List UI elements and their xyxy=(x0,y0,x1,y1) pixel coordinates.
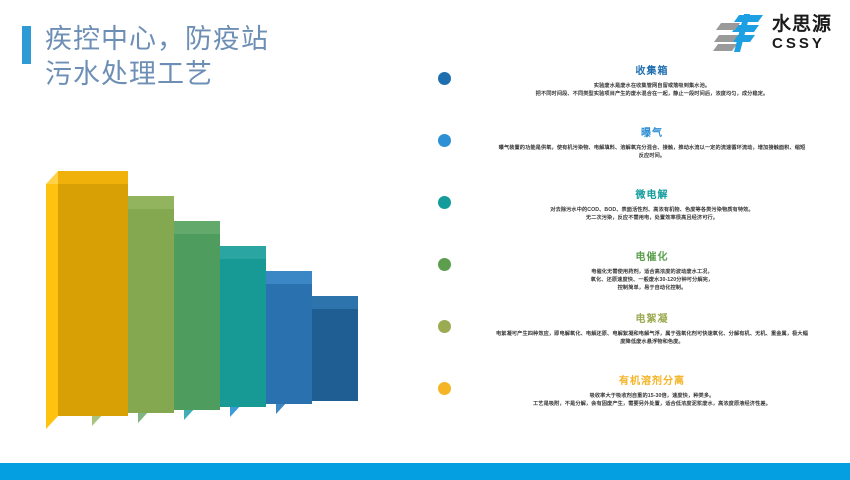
process-item-body: 微电解 对去除污水中的COD、BOD、表面活性剂、高浓有机物、色度等各类污染物质… xyxy=(468,186,836,222)
bullet-dot-5 xyxy=(438,320,451,333)
process-desc-1-line-1: 实验废水是废水在收集管网自留或落吸到集水池。 xyxy=(468,82,836,90)
bottom-accent-bar xyxy=(0,463,850,480)
process-item-6[interactable]: 有机溶剂分离 吸收率大于吸收剂自重的15-30倍，速度快，种类多。 工艺是吸附，… xyxy=(428,372,840,434)
process-desc-2-line-2: 反应时间。 xyxy=(468,152,836,160)
process-desc-4-line-1: 电催化无需使用药剂，适合高浓度的波动废水工况， xyxy=(468,268,836,276)
bullet-dot-4 xyxy=(438,258,451,271)
process-heading-4: 电催化 xyxy=(468,248,836,263)
process-desc-6-line-2: 工艺是吸附，不是分解，会有固废产生，需要另外处置，适合低浓度泥浆废水，高浓度原液… xyxy=(468,400,836,408)
bullet-dot-2 xyxy=(438,134,451,147)
logo-name-cn: 水思源 xyxy=(772,15,832,34)
process-item-body: 电絮凝 电絮凝可产生四种效应，即电解氧化、电解还原、电解絮凝和电解气浮，属于强氧… xyxy=(468,310,836,346)
logo-text: 水思源 CSSY xyxy=(772,15,832,51)
process-heading-5: 电絮凝 xyxy=(468,310,836,325)
process-item-3[interactable]: 微电解 对去除污水中的COD、BOD、表面活性剂、高浓有机物、色度等各类污染物质… xyxy=(428,186,840,248)
process-item-body: 收集箱 实验废水是废水在收集管网自留或落吸到集水池。 把不同时间段、不同类型实验… xyxy=(468,62,836,98)
process-desc-1-line-2: 把不同时间段、不同类型实验项目产生的废水混合在一起，静止一段时间后，浓度均匀，成… xyxy=(468,90,836,98)
slide-canvas: 疾控中心，防疫站 污水处理工艺 水思源 CSSY xyxy=(0,0,850,480)
process-item-5[interactable]: 电絮凝 电絮凝可产生四种效应，即电解氧化、电解还原、电解絮凝和电解气浮，属于强氧… xyxy=(428,310,840,372)
process-item-body: 电催化 电催化无需使用药剂，适合高浓度的波动废水工况， 氧化、还原速度快、一般废… xyxy=(468,248,836,292)
title-text: 疾控中心，防疫站 污水处理工艺 xyxy=(45,22,269,92)
process-desc-2-line-1: 曝气装置的功能是供氧，使有机污染物、电解填料、溶解氧充分混合、接触，推动水流以一… xyxy=(468,144,836,152)
process-list: 收集箱 实验废水是废水在收集管网自留或落吸到集水池。 把不同时间段、不同类型实验… xyxy=(428,62,840,437)
process-desc-3-line-2: 无二次污染，反应不需用电，处置效率很高且经济可行。 xyxy=(468,214,836,222)
title-accent-bar xyxy=(22,26,31,64)
panel-1-yellow xyxy=(46,171,128,429)
page-title: 疾控中心，防疫站 污水处理工艺 xyxy=(22,22,269,92)
title-line-2: 污水处理工艺 xyxy=(45,57,269,92)
process-desc-4-line-3: 控制简单，易于自动化控制。 xyxy=(468,284,836,292)
process-item-4[interactable]: 电催化 电催化无需使用药剂，适合高浓度的波动废水工况， 氧化、还原速度快、一般废… xyxy=(428,248,840,310)
brand-logo: 水思源 CSSY xyxy=(713,12,832,54)
bullet-dot-1 xyxy=(438,72,451,85)
process-desc-5-line-1: 电絮凝可产生四种效应，即电解氧化、电解还原、电解絮凝和电解气浮，属于强氧化剂可快… xyxy=(468,330,836,338)
logo-mark-icon xyxy=(713,12,765,54)
process-desc-4-line-2: 氧化、还原速度快、一般废水30-120分钟可分解完， xyxy=(468,276,836,284)
process-heading-3: 微电解 xyxy=(468,186,836,201)
process-heading-1: 收集箱 xyxy=(468,62,836,77)
process-heading-2: 曝气 xyxy=(468,124,836,139)
bullet-dot-3 xyxy=(438,196,451,209)
process-desc-5-line-2: 度降低废水悬浮物和色度。 xyxy=(468,338,836,346)
process-item-body: 曝气 曝气装置的功能是供氧，使有机污染物、电解填料、溶解氧充分混合、接触，推动水… xyxy=(468,124,836,160)
process-desc-3-line-1: 对去除污水中的COD、BOD、表面活性剂、高浓有机物、色度等各类污染物质有特效。 xyxy=(468,206,836,214)
stacked-panels-illustration xyxy=(18,96,408,446)
title-line-1: 疾控中心，防疫站 xyxy=(45,22,269,57)
process-item-body: 有机溶剂分离 吸收率大于吸收剂自重的15-30倍，速度快，种类多。 工艺是吸附，… xyxy=(468,372,836,408)
process-heading-6: 有机溶剂分离 xyxy=(468,372,836,387)
bullet-dot-6 xyxy=(438,382,451,395)
process-item-2[interactable]: 曝气 曝气装置的功能是供氧，使有机污染物、电解填料、溶解氧充分混合、接触，推动水… xyxy=(428,124,840,186)
logo-name-en: CSSY xyxy=(772,36,832,51)
process-desc-6-line-1: 吸收率大于吸收剂自重的15-30倍，速度快，种类多。 xyxy=(468,392,836,400)
process-item-1[interactable]: 收集箱 实验废水是废水在收集管网自留或落吸到集水池。 把不同时间段、不同类型实验… xyxy=(428,62,840,124)
